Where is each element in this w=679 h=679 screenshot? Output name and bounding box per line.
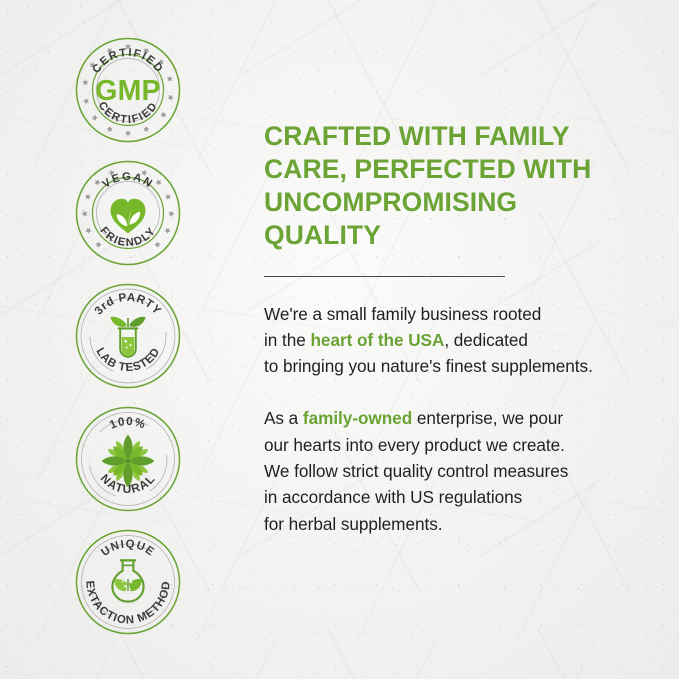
badge-third-party-lab-tested: 3rd PARTY LAB TESTED — [74, 282, 182, 390]
paragraph-2-highlight: family-owned — [303, 408, 412, 428]
divider — [264, 276, 505, 277]
badge-top-text: VEGAN — [100, 171, 155, 191]
badge-100-percent-natural: 100% NATURAL — [74, 405, 182, 513]
badge-top-text: 3rd PARTY — [92, 291, 164, 318]
badge-center-text: GMP — [95, 75, 161, 107]
certification-badge-column: CERTIFIED CERTIFIED GMP — [74, 36, 184, 651]
badge-top-text: 100% — [108, 415, 148, 432]
badge-unique-extraction-method: UNIQUE EXTACTION METHOD — [74, 528, 182, 636]
badge-gmp-certified: CERTIFIED CERTIFIED GMP — [74, 36, 182, 144]
test-tube-leaf-icon — [111, 317, 146, 357]
badge-top-text: CERTIFIED — [90, 47, 165, 76]
marketing-content: CRAFTED WITH FAMILY CARE, PERFECTED WITH… — [264, 120, 664, 537]
paragraph-about-family-business: We're a small family business rooted in … — [264, 301, 664, 380]
badge-vegan-friendly: VEGAN FRIENDLY — [74, 159, 182, 267]
paragraph-1-highlight: heart of the USA — [310, 330, 444, 350]
paragraph-2-text-before: As a — [264, 408, 303, 428]
flask-leaf-icon — [112, 560, 143, 601]
paragraph-about-quality-control: As a family-owned enterprise, we pour ou… — [264, 405, 664, 537]
badge-top-text: UNIQUE — [99, 538, 157, 559]
heart-leaf-icon — [111, 199, 146, 234]
page-headline: CRAFTED WITH FAMILY CARE, PERFECTED WITH… — [264, 120, 616, 253]
